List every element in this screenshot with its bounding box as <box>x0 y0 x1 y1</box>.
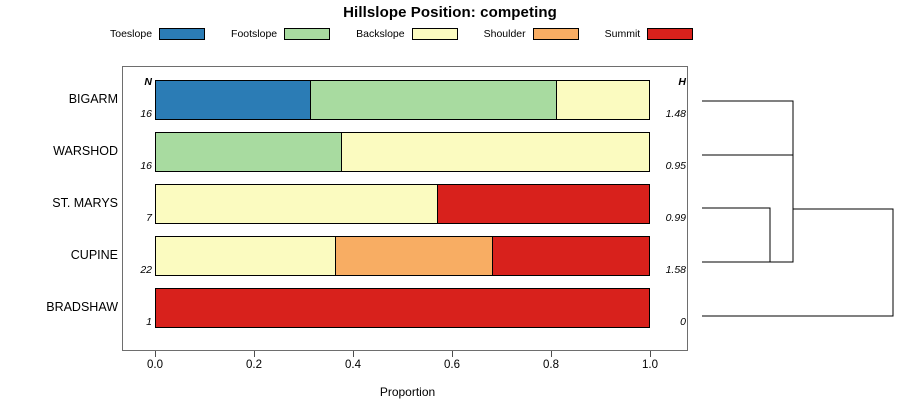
n-column: N 16167221 <box>126 66 154 351</box>
x-tick-label: 0.2 <box>246 359 262 371</box>
h-column-header: H <box>654 76 686 88</box>
legend-swatch <box>284 28 330 40</box>
h-value: 0.99 <box>654 212 686 224</box>
category-label-cupine: CUPINE <box>0 248 118 262</box>
legend-item-shoulder[interactable]: Shoulder <box>484 28 579 40</box>
x-axis-title: Proportion <box>0 385 900 399</box>
h-value: 0 <box>654 316 686 328</box>
legend-item-backslope[interactable]: Backslope <box>356 28 457 40</box>
x-tick-label: 0.8 <box>543 359 559 371</box>
chart-root: Hillslope Position: competing ToeslopeFo… <box>0 0 900 420</box>
h-value: 1.48 <box>654 108 686 120</box>
x-tick <box>551 351 552 357</box>
dendro-merge-bigarm-warshod <box>702 101 793 155</box>
legend-item-toeslope[interactable]: Toeslope <box>110 28 205 40</box>
bar-bigarm[interactable] <box>155 80 650 120</box>
category-label-st-marys: ST. MARYS <box>0 196 118 210</box>
h-column: H 1.480.950.991.580 <box>654 66 688 351</box>
legend: ToeslopeFootslopeBackslopeShoulderSummit <box>110 26 790 42</box>
legend-label: Summit <box>605 28 641 40</box>
x-tick <box>155 351 156 357</box>
x-tick-label: 0.6 <box>444 359 460 371</box>
n-column-header: N <box>126 76 152 88</box>
bar-cupine[interactable] <box>155 236 650 276</box>
bar-segment-summit[interactable] <box>438 185 649 223</box>
n-value: 7 <box>126 212 152 224</box>
x-tick <box>452 351 453 357</box>
n-value: 22 <box>126 264 152 276</box>
bar-segment-shoulder[interactable] <box>336 237 493 275</box>
bar-segment-backslope[interactable] <box>342 133 650 171</box>
x-axis: 0.00.20.40.60.81.0 <box>122 351 688 381</box>
dendrogram-svg <box>688 66 900 351</box>
category-label-warshod: WARSHOD <box>0 144 118 158</box>
bar-segment-summit[interactable] <box>493 237 649 275</box>
category-axis-labels: BIGARMWARSHODST. MARYSCUPINEBRADSHAW <box>0 66 118 351</box>
legend-item-summit[interactable]: Summit <box>605 28 694 40</box>
legend-label: Shoulder <box>484 28 526 40</box>
n-value: 16 <box>126 160 152 172</box>
bar-segment-backslope[interactable] <box>557 81 649 119</box>
page-title: Hillslope Position: competing <box>0 4 900 21</box>
bar-segment-footslope[interactable] <box>311 81 558 119</box>
category-label-bigarm: BIGARM <box>0 92 118 106</box>
x-axis-title-text: Proportion <box>380 385 435 399</box>
bar-segment-backslope[interactable] <box>156 185 438 223</box>
bar-segment-summit[interactable] <box>156 289 649 327</box>
dendro-merge-upper-lower <box>770 155 793 262</box>
x-tick-label: 1.0 <box>642 359 658 371</box>
bar-segment-backslope[interactable] <box>156 237 336 275</box>
legend-label: Toeslope <box>110 28 152 40</box>
bar-segment-toeslope[interactable] <box>156 81 311 119</box>
legend-label: Backslope <box>356 28 404 40</box>
x-tick <box>353 351 354 357</box>
n-value: 1 <box>126 316 152 328</box>
bar-st-marys[interactable] <box>155 184 650 224</box>
category-label-bradshaw: BRADSHAW <box>0 300 118 314</box>
x-tick <box>254 351 255 357</box>
bar-bradshaw[interactable] <box>155 288 650 328</box>
x-tick-label: 0.4 <box>345 359 361 371</box>
dendro-merge-stmarys-cupine <box>702 208 770 262</box>
legend-swatch <box>159 28 205 40</box>
legend-swatch <box>647 28 693 40</box>
legend-swatch <box>533 28 579 40</box>
dendrogram <box>688 66 900 351</box>
n-value: 16 <box>126 108 152 120</box>
legend-label: Footslope <box>231 28 277 40</box>
legend-item-footslope[interactable]: Footslope <box>231 28 330 40</box>
h-value: 1.58 <box>654 264 686 276</box>
bar-segment-footslope[interactable] <box>156 133 342 171</box>
bar-warshod[interactable] <box>155 132 650 172</box>
x-tick-label: 0.0 <box>147 359 163 371</box>
h-value: 0.95 <box>654 160 686 172</box>
legend-swatch <box>412 28 458 40</box>
x-tick <box>650 351 651 357</box>
